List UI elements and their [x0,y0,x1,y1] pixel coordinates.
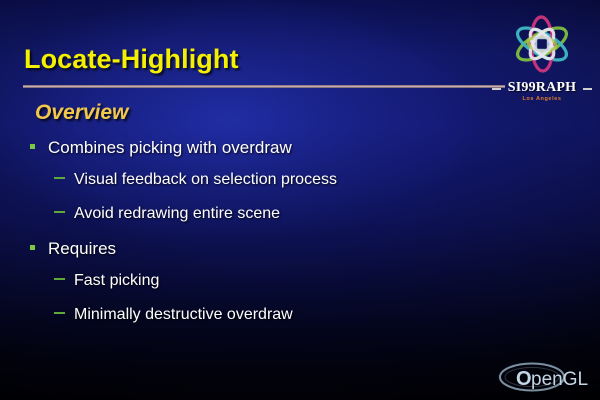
list-item: Avoid redrawing entire scene [0,205,600,239]
dash-bullet-icon [54,211,65,213]
list-item-label: Requires [48,239,116,259]
siggraph-logo: SI99RAPH Los Angeles [490,8,594,106]
list-item-label: Visual feedback on selection process [74,171,337,189]
square-bullet-icon [30,144,35,149]
list-item-label: Combines picking with overdraw [48,138,292,158]
dash-bullet-icon [54,177,65,179]
opengl-logo-icon: O penGL . [498,360,594,394]
svg-text:penGL: penGL [531,369,588,390]
siggraph-wordmark: SI99RAPH [490,80,594,96]
svg-text:O: O [516,368,532,390]
list-item: Fast picking [0,272,600,306]
list-item-label: Avoid redrawing entire scene [74,205,280,223]
list-item-label: Minimally destructive overdraw [74,306,293,324]
square-bullet-icon [30,245,35,250]
opengl-logo: O penGL . [498,360,594,394]
list-item: Visual feedback on selection process [0,171,600,205]
siggraph-city-label: Los Angeles [490,96,594,102]
presentation-slide: Locate-Highlight Overview Combines picki… [0,0,600,400]
slide-content: Locate-Highlight Overview Combines picki… [0,0,600,400]
dash-bullet-icon [54,278,65,280]
list-item: Requires [0,239,600,272]
slide-subtitle: Overview [35,101,128,125]
siggraph-rings-icon [490,8,594,84]
wordmark-dash-right-icon [583,88,592,90]
list-item: Combines picking with overdraw [0,138,600,171]
title-divider-rule [23,85,505,88]
slide-title: Locate-Highlight [24,44,239,75]
dash-bullet-icon [54,312,65,314]
svg-text:.: . [586,377,589,387]
list-item: Minimally destructive overdraw [0,306,600,340]
bullet-list: Combines picking with overdraw Visual fe… [0,138,600,340]
list-item-label: Fast picking [74,272,159,290]
